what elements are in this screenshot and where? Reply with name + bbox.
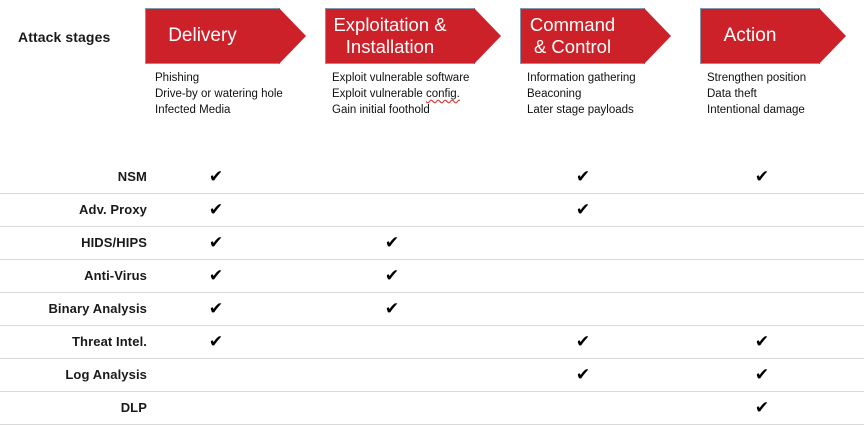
empty-cell (742, 227, 782, 259)
check-mark-icon: ✔ (196, 260, 236, 292)
empty-cell (563, 260, 603, 292)
table-row: DLP✔ (0, 392, 864, 425)
empty-cell (742, 194, 782, 226)
table-row: Binary Analysis✔✔ (0, 293, 864, 326)
row-label-hids-hips: HIDS/HIPS (0, 227, 147, 259)
check-mark-icon: ✔ (563, 326, 603, 358)
empty-cell (196, 359, 236, 391)
row-label-nsm: NSM (0, 161, 147, 193)
row-label-binary-analysis: Binary Analysis (0, 293, 147, 325)
stage-title: Exploitation &Installation (333, 14, 446, 58)
stage-title: Action (724, 25, 777, 47)
stage-arrow-banner: Command& Control (520, 8, 645, 64)
stage-title: Delivery (168, 25, 237, 47)
check-mark-icon: ✔ (372, 260, 412, 292)
empty-cell (372, 194, 412, 226)
stage-bullet-item: Beaconing (527, 86, 636, 102)
stage-title-line: & Control (530, 36, 615, 58)
capability-matrix: NSM✔✔✔Adv. Proxy✔✔HIDS/HIPS✔✔Anti-Virus✔… (0, 161, 864, 425)
stage-bullet-list: Information gatheringBeaconingLater stag… (527, 70, 636, 118)
table-row: NSM✔✔✔ (0, 161, 864, 194)
stage-arrow-banner: Exploitation &Installation (325, 8, 475, 64)
check-mark-icon: ✔ (196, 194, 236, 226)
empty-cell (372, 161, 412, 193)
stage-bullet-list: Exploit vulnerable softwareExploit vulne… (332, 70, 469, 118)
arrow-head-icon (819, 8, 846, 64)
stage-title-line: Exploitation & (333, 14, 446, 36)
row-label-dlp: DLP (0, 392, 147, 424)
stage-bullet-item: Data theft (707, 86, 806, 102)
stage-bullet-item: Gain initial foothold (332, 102, 469, 118)
check-mark-icon: ✔ (196, 326, 236, 358)
stage-title-line: Action (724, 25, 777, 47)
arrow-head-icon (279, 8, 306, 64)
stage-bullet-item: Exploit vulnerable software (332, 70, 469, 86)
table-row: Log Analysis✔✔ (0, 359, 864, 392)
stage-bullet-list: Strengthen positionData theftIntentional… (707, 70, 806, 118)
row-label-log-analysis: Log Analysis (0, 359, 147, 391)
stage-bullet-item: Intentional damage (707, 102, 806, 118)
check-mark-icon: ✔ (563, 194, 603, 226)
table-row: Adv. Proxy✔✔ (0, 194, 864, 227)
check-mark-icon: ✔ (196, 293, 236, 325)
empty-cell (372, 326, 412, 358)
stage-bullet-item: Phishing (155, 70, 283, 86)
empty-cell (372, 392, 412, 424)
stage-title-line: Command (530, 14, 615, 36)
stage-bullet-item: Strengthen position (707, 70, 806, 86)
stage-title-line: Installation (333, 36, 446, 58)
check-mark-icon: ✔ (372, 227, 412, 259)
empty-cell (196, 392, 236, 424)
attack-stages-section: Attack stages DeliveryPhishingDrive-by o… (0, 0, 864, 148)
empty-cell (372, 359, 412, 391)
check-mark-icon: ✔ (196, 161, 236, 193)
stage-bullet-item: Infected Media (155, 102, 283, 118)
arrow-head-icon (474, 8, 501, 64)
stage-bullet-item: Exploit vulnerable config. (332, 86, 469, 102)
empty-cell (563, 227, 603, 259)
stage-bullet-item: Drive-by or watering hole (155, 86, 283, 102)
stage-arrow-banner: Delivery (145, 8, 280, 64)
check-mark-icon: ✔ (563, 359, 603, 391)
check-mark-icon: ✔ (742, 326, 782, 358)
row-label-anti-virus: Anti-Virus (0, 260, 147, 292)
stage-bullet-item: Later stage payloads (527, 102, 636, 118)
empty-cell (563, 392, 603, 424)
stage-title: Command& Control (530, 14, 615, 58)
spellcheck-underline-word: config. (426, 88, 460, 100)
empty-cell (742, 260, 782, 292)
stage-arrow-banner: Action (700, 8, 820, 64)
row-label-threat-intel: Threat Intel. (0, 326, 147, 358)
table-row: Anti-Virus✔✔ (0, 260, 864, 293)
check-mark-icon: ✔ (563, 161, 603, 193)
empty-cell (742, 293, 782, 325)
check-mark-icon: ✔ (742, 359, 782, 391)
bullet-text: Exploit vulnerable (332, 88, 426, 100)
row-label-adv-proxy: Adv. Proxy (0, 194, 147, 226)
check-mark-icon: ✔ (742, 161, 782, 193)
table-row: Threat Intel.✔✔✔ (0, 326, 864, 359)
stage-title-line: Delivery (168, 25, 237, 47)
stage-bullet-item: Information gathering (527, 70, 636, 86)
empty-cell (563, 293, 603, 325)
check-mark-icon: ✔ (372, 293, 412, 325)
check-mark-icon: ✔ (196, 227, 236, 259)
check-mark-icon: ✔ (742, 392, 782, 424)
table-row: HIDS/HIPS✔✔ (0, 227, 864, 260)
arrow-head-icon (644, 8, 671, 64)
attack-stages-label: Attack stages (18, 29, 110, 45)
stage-bullet-list: PhishingDrive-by or watering holeInfecte… (155, 70, 283, 118)
